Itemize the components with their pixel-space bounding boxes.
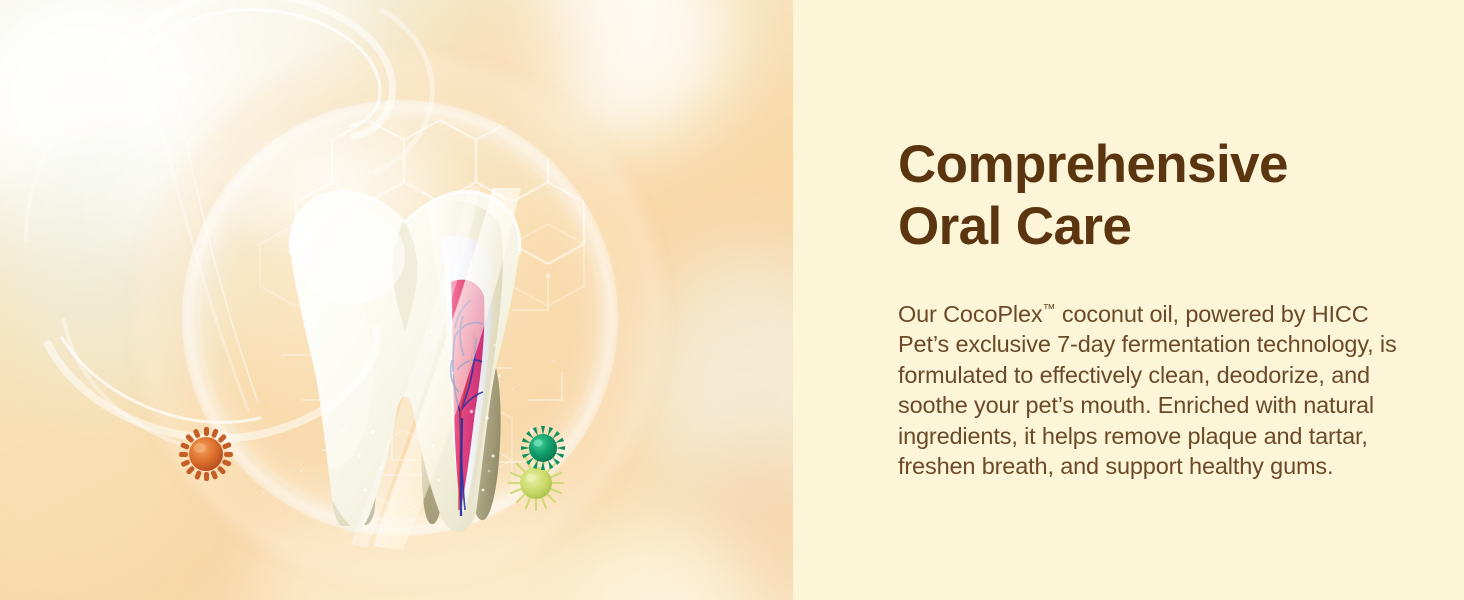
- headline-line-1: Comprehensive: [898, 134, 1368, 196]
- body-paragraph: Our CocoPlex™ coconut oil, powered by HI…: [898, 294, 1398, 482]
- body-text-before-trademark: Our CocoPlex: [898, 301, 1042, 327]
- sparkle-specks: [0, 0, 793, 600]
- copy-panel: Comprehensive Oral Care Our CocoPlex™ co…: [793, 0, 1464, 600]
- oral-care-banner: Comprehensive Oral Care Our CocoPlex™ co…: [0, 0, 1464, 600]
- orange-virus-microbe: [176, 424, 236, 484]
- headline-line-2: Oral Care: [898, 196, 1368, 258]
- teal-bacteria-microbe: [519, 424, 567, 472]
- illustration-panel: [0, 0, 793, 600]
- page-title: Comprehensive Oral Care: [898, 134, 1368, 258]
- trademark-symbol: ™: [1042, 301, 1055, 316]
- body-text-after-trademark: coconut oil, powered by HICC Pet’s exclu…: [898, 301, 1397, 480]
